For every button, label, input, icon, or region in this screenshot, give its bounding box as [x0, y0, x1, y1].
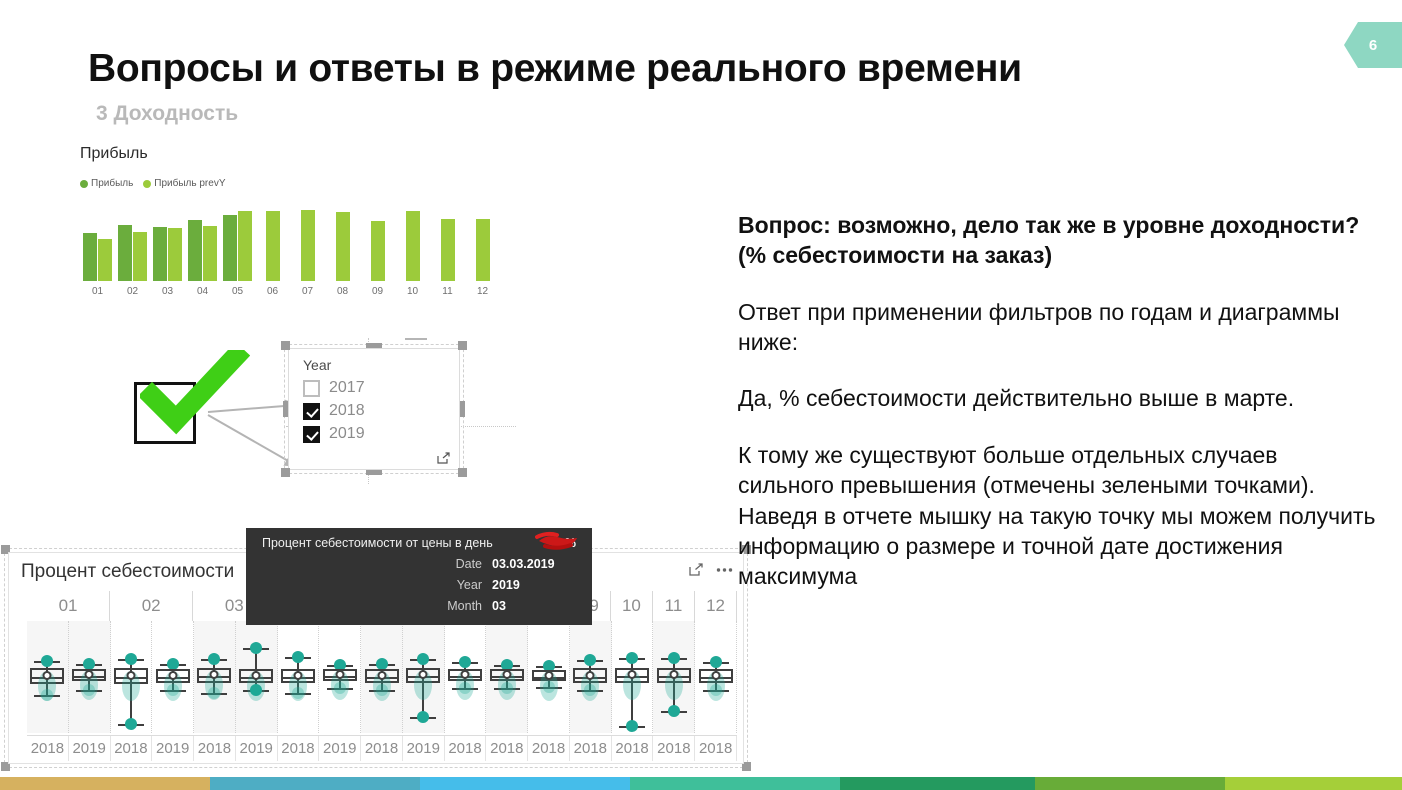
max-point-dot[interactable] — [710, 656, 722, 668]
boxplot-year-axis: 2018201920182019201820192018201920182019… — [27, 735, 737, 761]
x-tick-01: 01 — [80, 286, 115, 297]
tooltip-key: Date — [436, 557, 482, 571]
slicer-option-2019[interactable]: 2019 — [303, 425, 459, 443]
median-marker[interactable] — [168, 671, 177, 680]
tooltip-header-value: % — [565, 536, 578, 550]
boxplot-cell-04-2018[interactable] — [278, 621, 320, 733]
tooltip-key: Month — [436, 599, 482, 613]
tooltip-key: Year — [436, 578, 482, 592]
more-options-icon[interactable] — [716, 567, 733, 573]
month-header-01: 01 — [27, 591, 110, 621]
median-marker[interactable] — [293, 671, 302, 680]
footer-color-strip — [0, 777, 1402, 790]
slicer-option-2018[interactable]: 2018 — [303, 402, 459, 420]
boxplot-cell-07-2018[interactable] — [486, 621, 528, 733]
max-point-dot[interactable] — [626, 652, 638, 664]
min-point-dot[interactable] — [417, 711, 429, 723]
tooltip-header-label: Процент себестоимости от цены в день — [262, 536, 493, 550]
boxplot-cell-05-2019[interactable] — [403, 621, 445, 733]
text-outliers: К тому же существуют больше отдельных сл… — [738, 440, 1378, 501]
x-tick-06: 06 — [255, 286, 290, 297]
bar-Прибыль prevY-12[interactable] — [476, 219, 490, 281]
year-tick-7: 2019 — [319, 736, 361, 761]
bar-group-08[interactable] — [325, 203, 360, 281]
year-tick-8: 2018 — [361, 736, 403, 761]
legend-dot-icon — [143, 180, 151, 188]
median-marker[interactable] — [628, 670, 637, 679]
checkbox-outline — [134, 382, 196, 444]
year-tick-6: 2018 — [278, 736, 320, 761]
median-marker[interactable] — [43, 671, 52, 680]
bar-chart-title: Прибыль — [80, 146, 500, 162]
slicer-title: Year — [303, 357, 459, 373]
median-marker[interactable] — [377, 671, 386, 680]
median-marker[interactable] — [126, 671, 135, 680]
x-tick-03: 03 — [150, 286, 185, 297]
year-tick-16: 2018 — [695, 736, 737, 761]
text-hover-hint: Наведя в отчете мышку на такую точку мы … — [738, 501, 1378, 592]
bar-group-05[interactable] — [220, 203, 255, 281]
boxplot-cell-12-2018[interactable] — [695, 621, 737, 733]
x-tick-08: 08 — [325, 286, 360, 297]
bar-group-12[interactable] — [465, 203, 500, 281]
checkbox-unchecked-icon[interactable] — [303, 380, 320, 397]
bar-chart-plot — [80, 203, 500, 281]
bar-Прибыль-01[interactable] — [83, 233, 97, 281]
boxplot-cell-09-2018[interactable] — [570, 621, 612, 733]
focus-mode-icon[interactable] — [437, 452, 451, 464]
bar-chart-x-axis: 010203040506070809101112 — [80, 286, 500, 297]
slide-number-text: 6 — [1369, 37, 1377, 54]
boxplot-cell-03-2018[interactable] — [194, 621, 236, 733]
strip-segment-0 — [0, 777, 210, 790]
legend-item-1[interactable]: Прибыль prevY — [143, 178, 225, 189]
x-tick-05: 05 — [220, 286, 255, 297]
min-point-dot[interactable] — [125, 718, 137, 730]
boxplot-cell-05-2018[interactable] — [361, 621, 403, 733]
year-tick-4: 2018 — [194, 736, 236, 761]
bar-Прибыль prevY-11[interactable] — [441, 219, 455, 281]
month-header-12: 12 — [695, 591, 737, 621]
boxplot-title: Процент себестоимости — [21, 561, 234, 583]
max-point-dot[interactable] — [83, 658, 95, 670]
focus-mode-icon[interactable] — [689, 563, 704, 576]
slicer-option-label: 2018 — [329, 402, 365, 420]
x-tick-12: 12 — [465, 286, 500, 297]
tooltip-row-Date: Date03.03.2019 — [262, 557, 578, 571]
x-tick-09: 09 — [360, 286, 395, 297]
median-marker[interactable] — [544, 671, 553, 680]
boxplot-cell-11-2018[interactable] — [653, 621, 695, 733]
chart-tooltip: Процент себестоимости от цены в день % D… — [246, 528, 592, 625]
boxplot-cell-06-2018[interactable] — [445, 621, 487, 733]
year-tick-2: 2018 — [111, 736, 153, 761]
bar-group-09[interactable] — [360, 203, 395, 281]
median-marker[interactable] — [711, 671, 720, 680]
min-point-dot[interactable] — [668, 705, 680, 717]
slicer-option-label: 2017 — [329, 379, 365, 397]
month-header-02: 02 — [110, 591, 193, 621]
bar-Прибыль prevY-04[interactable] — [203, 226, 217, 281]
page-title: Вопросы и ответы в режиме реального врем… — [88, 47, 1022, 91]
tooltip-value: 03 — [492, 599, 578, 613]
strip-segment-4 — [840, 777, 1035, 790]
bar-group-01[interactable] — [80, 203, 115, 281]
bar-Прибыль prevY-06[interactable] — [266, 211, 280, 281]
boxplot-cell-03-2019[interactable] — [236, 621, 278, 733]
legend-item-0[interactable]: Прибыль — [80, 178, 133, 189]
boxplot-cell-01-2019[interactable] — [69, 621, 111, 733]
bar-Прибыль prevY-03[interactable] — [168, 228, 182, 281]
bar-Прибыль prevY-09[interactable] — [371, 221, 385, 281]
year-tick-11: 2018 — [486, 736, 528, 761]
max-point-dot[interactable] — [41, 655, 53, 667]
year-slicer[interactable]: Year 201720182019 — [288, 348, 460, 470]
max-point-dot[interactable] — [417, 653, 429, 665]
x-tick-07: 07 — [290, 286, 325, 297]
bar-group-03[interactable] — [150, 203, 185, 281]
median-marker[interactable] — [335, 670, 344, 679]
legend-label: Прибыль — [91, 178, 133, 189]
x-tick-11: 11 — [430, 286, 465, 297]
median-marker[interactable] — [419, 670, 428, 679]
bar-Прибыль prevY-08[interactable] — [336, 212, 350, 281]
bar-Прибыль-03[interactable] — [153, 227, 167, 281]
median-marker[interactable] — [252, 671, 261, 680]
boxplot-plot-area — [27, 621, 737, 733]
year-tick-15: 2018 — [653, 736, 695, 761]
bar-Прибыль prevY-05[interactable] — [238, 211, 252, 281]
legend-label: Прибыль prevY — [154, 178, 225, 189]
slide-number-badge: 6 — [1344, 22, 1402, 68]
year-tick-0: 2018 — [27, 736, 69, 761]
month-header-10: 10 — [611, 591, 653, 621]
max-point-dot[interactable] — [125, 653, 137, 665]
year-tick-13: 2018 — [570, 736, 612, 761]
bar-Прибыль-02[interactable] — [118, 225, 132, 281]
max-point-dot[interactable] — [167, 658, 179, 670]
median-marker[interactable] — [586, 671, 595, 680]
tooltip-row-Year: Year2019 — [262, 578, 578, 592]
max-point-dot[interactable] — [668, 652, 680, 664]
year-tick-14: 2018 — [612, 736, 654, 761]
x-tick-04: 04 — [185, 286, 220, 297]
year-tick-10: 2018 — [445, 736, 487, 761]
boxplot-cell-02-2019[interactable] — [152, 621, 194, 733]
bar-chart-legend: ПрибыльПрибыль prevY — [80, 178, 500, 189]
ruler-tick — [405, 336, 427, 340]
year-tick-12: 2018 — [528, 736, 570, 761]
tooltip-value: 2019 — [492, 578, 578, 592]
median-marker[interactable] — [210, 670, 219, 679]
boxplot-cell-04-2019[interactable] — [319, 621, 361, 733]
legend-dot-icon — [80, 180, 88, 188]
redaction-scribble-icon — [535, 531, 581, 551]
slide-canvas: 6 Вопросы и ответы в режиме реального вр… — [0, 0, 1402, 790]
year-tick-1: 2019 — [69, 736, 111, 761]
profit-bar-chart[interactable]: Прибыль ПрибыльПрибыль prevY 01020304050… — [80, 146, 500, 316]
strip-segment-6 — [1225, 777, 1402, 790]
x-tick-10: 10 — [395, 286, 430, 297]
boxplot-cell-10-2018[interactable] — [612, 621, 654, 733]
strip-segment-5 — [1035, 777, 1225, 790]
text-answer-intro: Ответ при применении фильтров по годам и… — [738, 297, 1378, 358]
year-tick-3: 2019 — [152, 736, 194, 761]
text-question: Вопрос: возможно, дело так же в уровне д… — [738, 210, 1378, 271]
bar-group-11[interactable] — [430, 203, 465, 281]
bar-group-07[interactable] — [290, 203, 325, 281]
slicer-option-label: 2019 — [329, 425, 365, 443]
boxplot-cell-08-2018[interactable] — [528, 621, 570, 733]
explanation-text-block: Вопрос: возможно, дело так же в уровне д… — [738, 210, 1378, 592]
max-point-dot[interactable] — [584, 654, 596, 666]
max-point-dot[interactable] — [376, 658, 388, 670]
tooltip-row-Month: Month03 — [262, 599, 578, 613]
page-subtitle: 3 Доходность — [96, 102, 238, 126]
strip-segment-3 — [630, 777, 840, 790]
max-point-dot[interactable] — [292, 651, 304, 663]
bar-Прибыль prevY-07[interactable] — [301, 210, 315, 281]
checkbox-checked-icon[interactable] — [303, 426, 320, 443]
text-answer-detail: Да, % себестоимости действительно выше в… — [738, 383, 1378, 413]
slicer-option-2017[interactable]: 2017 — [303, 379, 459, 397]
bar-Прибыль-04[interactable] — [188, 220, 202, 281]
strip-segment-2 — [420, 777, 630, 790]
bar-group-04[interactable] — [185, 203, 220, 281]
bar-Прибыль prevY-10[interactable] — [406, 211, 420, 281]
tooltip-value: 03.03.2019 — [492, 557, 578, 571]
checkbox-checked-icon[interactable] — [303, 403, 320, 420]
bar-group-06[interactable] — [255, 203, 290, 281]
strip-segment-1 — [210, 777, 420, 790]
bar-Прибыль prevY-02[interactable] — [133, 232, 147, 281]
boxplot-cell-02-2018[interactable] — [111, 621, 153, 733]
year-tick-9: 2019 — [403, 736, 445, 761]
min-point-dot[interactable] — [626, 720, 638, 732]
max-point-dot[interactable] — [208, 653, 220, 665]
max-point-dot[interactable] — [459, 656, 471, 668]
bar-Прибыль prevY-01[interactable] — [98, 239, 112, 281]
bar-group-10[interactable] — [395, 203, 430, 281]
boxplot-cell-01-2018[interactable] — [27, 621, 69, 733]
median-marker[interactable] — [461, 670, 470, 679]
median-marker[interactable] — [85, 670, 94, 679]
x-tick-02: 02 — [115, 286, 150, 297]
max-point-dot[interactable] — [250, 642, 262, 654]
median-marker[interactable] — [669, 670, 678, 679]
bar-group-02[interactable] — [115, 203, 150, 281]
median-marker[interactable] — [502, 670, 511, 679]
year-tick-5: 2019 — [236, 736, 278, 761]
month-header-11: 11 — [653, 591, 695, 621]
bar-Прибыль-05[interactable] — [223, 215, 237, 281]
